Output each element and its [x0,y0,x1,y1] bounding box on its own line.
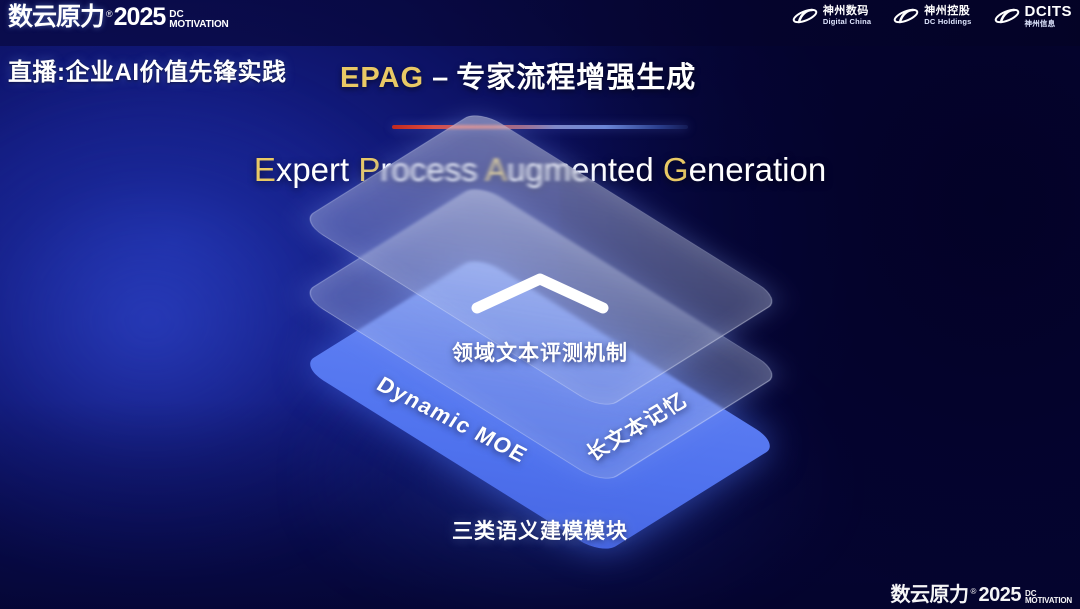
layer-stack-diagram: 领域文本评测机制 Dynamic MOE 长文本记忆 三类语义建模模块 [270,215,810,575]
title-divider [392,125,688,129]
live-session-title: 直播:企业AI价值先锋实践 [8,52,287,87]
partner-name-en: DC Holdings [924,18,971,26]
partner-name-en: 神州信息 [1025,20,1073,28]
partner-logo-group: 神州数码 Digital China 神州控股 DC Holdings DCIT… [792,4,1072,28]
watermark-registered-icon: ® [971,587,977,596]
partner-text-block: DCITS 神州信息 [1025,4,1073,28]
galaxy-swirl-icon [893,5,919,27]
subtitle-part: eneration [689,151,827,188]
subtitle-part: G [663,151,689,188]
subtitle-part: xpert [276,151,359,188]
galaxy-swirl-icon [994,5,1020,27]
watermark-year: 2025 [978,585,1021,605]
partner-text-block: 神州数码 Digital China [823,6,871,25]
page-title: EPAG – 专家流程增强生成 [340,54,696,96]
galaxy-swirl-icon [792,5,818,27]
footer-watermark: 数云原力 ® 2025 DC MOTIVATION [891,585,1072,605]
brand-dc-motivation: DC MOTIVATION [169,10,228,29]
diagram-layer-bottom-label: 三类语义建模模块 [452,515,628,545]
brand-registered-icon: ® [106,10,113,19]
partner-name-en: Digital China [823,18,871,26]
slide-canvas: 数云原力 ® 2025 DC MOTIVATION 直播:企业AI价值先锋实践 … [0,0,1080,609]
watermark-name-cn: 数云原力 [891,585,969,605]
title-chinese: 专家流程增强生成 [456,62,696,94]
partner-name-cn: 神州控股 [924,6,971,18]
diagram-layer-top-label: 领域文本评测机制 [452,337,628,367]
brand-year: 2025 [114,5,166,30]
partner-logo-dcits: DCITS 神州信息 [994,4,1073,28]
title-dash: – [424,62,456,94]
subtitle-part: E [254,151,276,188]
brand-name-cn: 数云原力 [8,5,104,30]
watermark-motivation-label: MOTIVATION [1025,597,1072,605]
partner-name-cn: 神州数码 [823,6,871,18]
chevron-up-icon [467,270,613,316]
partner-logo-dc-holdings: 神州控股 DC Holdings [893,5,971,27]
watermark-dc-motivation: DC MOTIVATION [1025,590,1072,605]
partner-logo-digital-china: 神州数码 Digital China [792,5,871,27]
title-abbreviation: EPAG [340,62,424,94]
brand-logo: 数云原力 ® 2025 DC MOTIVATION [8,5,229,30]
partner-name-cn: DCITS [1025,4,1073,20]
partner-text-block: 神州控股 DC Holdings [924,6,971,25]
brand-motivation-label: MOTIVATION [169,20,228,30]
